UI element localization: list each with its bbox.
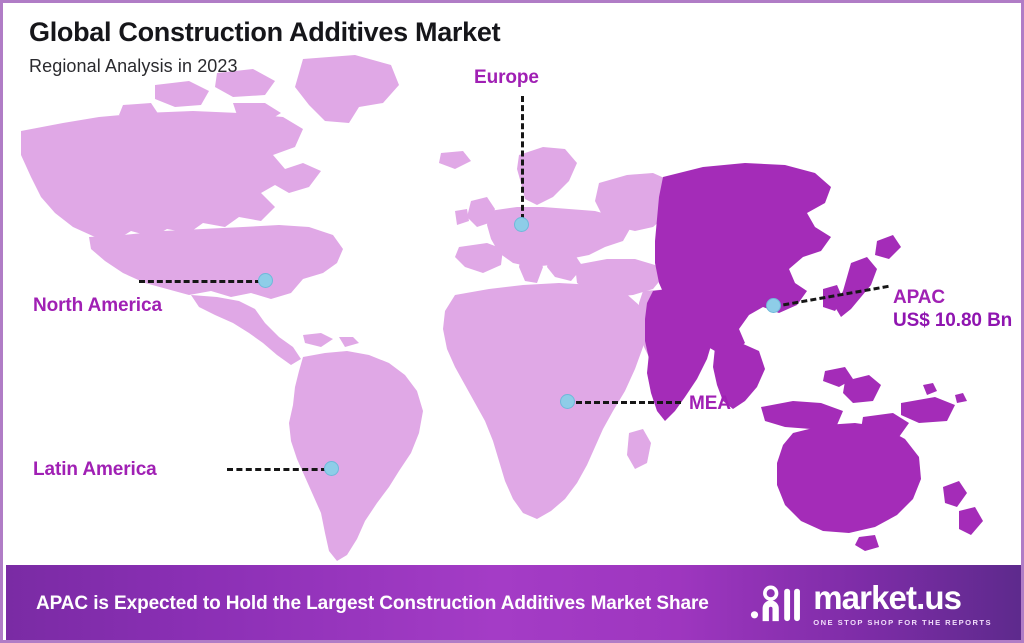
- map-marker-mea[interactable]: [560, 394, 575, 409]
- footer-banner: APAC is Expected to Hold the Largest Con…: [6, 565, 1024, 643]
- region-label-mea-name: MEA: [689, 393, 731, 414]
- region-label-latin-america[interactable]: Latin America: [33, 458, 157, 481]
- header: Global Construction Additives Market Reg…: [29, 17, 729, 77]
- map-region-apac-highlight: [645, 163, 983, 551]
- map-marker-north-america[interactable]: [258, 273, 273, 288]
- market-us-logo-icon: [750, 581, 804, 627]
- region-label-apac[interactable]: APAC US$ 10.80 Bn: [893, 286, 1012, 332]
- logo-name: market.us: [813, 581, 961, 614]
- infographic-canvas: Global Construction Additives Market Reg…: [0, 0, 1024, 643]
- leader-line-latin-america: [227, 468, 327, 471]
- brand-logo[interactable]: market.us ONE STOP SHOP FOR THE REPORTS: [750, 581, 1006, 627]
- region-label-mea[interactable]: MEA: [689, 392, 731, 415]
- page-title: Global Construction Additives Market: [29, 17, 729, 48]
- region-label-north-america[interactable]: North America: [33, 294, 162, 317]
- region-label-north-america-name: North America: [33, 295, 162, 316]
- leader-line-north-america: [139, 280, 261, 283]
- leader-line-mea: [567, 401, 681, 404]
- map-marker-europe[interactable]: [514, 217, 529, 232]
- region-label-apac-name: APAC: [893, 287, 945, 308]
- footer-caption: APAC is Expected to Hold the Largest Con…: [36, 592, 709, 617]
- map-marker-latin-america[interactable]: [324, 461, 339, 476]
- page-subtitle: Regional Analysis in 2023: [29, 56, 729, 77]
- region-label-latin-america-name: Latin America: [33, 459, 157, 480]
- leader-line-europe: [521, 96, 524, 220]
- logo-tagline: ONE STOP SHOP FOR THE REPORTS: [813, 618, 992, 627]
- map-marker-apac[interactable]: [766, 298, 781, 313]
- region-value-apac: US$ 10.80 Bn: [893, 309, 1012, 332]
